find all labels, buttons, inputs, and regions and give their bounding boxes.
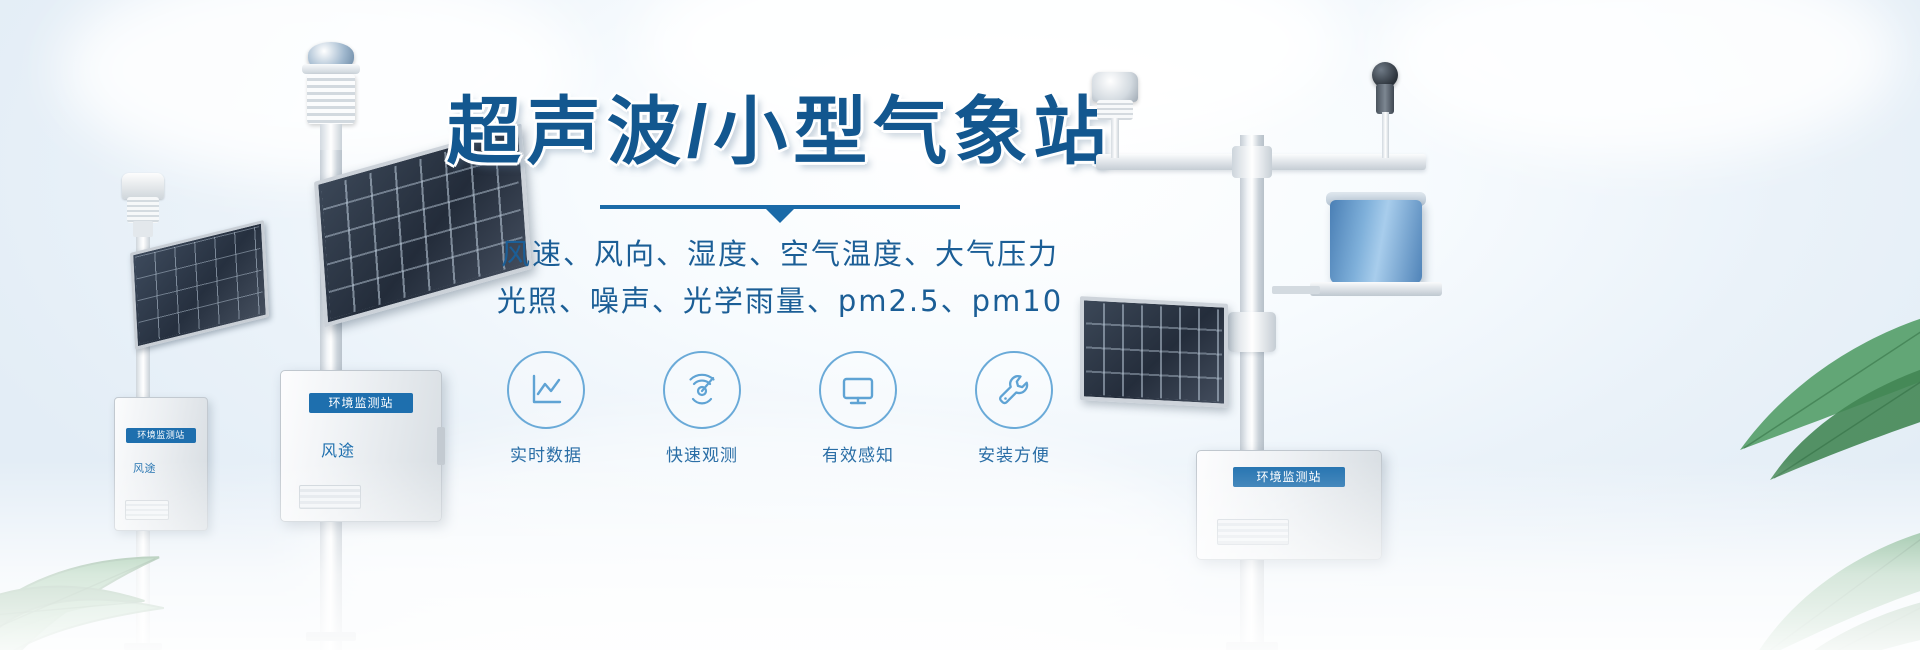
radiation-shield: [127, 197, 159, 223]
ultrasonic-sensor-icon: [1092, 72, 1138, 102]
radiation-shield-cap: [122, 173, 164, 199]
shield-cap: [302, 64, 360, 74]
subtitle-group: 风速、风向、湿度、空气温度、大气压力 光照、噪声、光学雨量、pm2.5、pm10: [430, 231, 1130, 325]
feature-item-easy-install[interactable]: 安装方便: [964, 351, 1064, 466]
camera-stem: [1382, 112, 1389, 158]
radiation-shield: [1097, 100, 1133, 120]
banner-content: 超声波/小型气象站 风速、风向、湿度、空气温度、大气压力 光照、噪声、光学雨量、…: [430, 95, 1130, 466]
radar-signal-icon: [663, 351, 741, 429]
radiation-shield: [307, 74, 355, 124]
cabinet-label: 环境监测站: [309, 393, 413, 413]
mast-collar: [1232, 146, 1272, 178]
rain-gauge: [1330, 200, 1422, 284]
chart-line-icon: [507, 351, 585, 429]
subtitle-line-2: 光照、噪声、光学雨量、pm2.5、pm10: [430, 278, 1130, 325]
monitor-screen-icon: [819, 351, 897, 429]
feature-item-effective-sensing[interactable]: 有效感知: [808, 351, 908, 466]
solar-panel: [1080, 296, 1228, 408]
product-banner: 环境监测站 风途 环境监测站 风途 超声波/小型气象站 风速、风向、湿度、空气温…: [0, 0, 1920, 650]
mast-collar: [1228, 312, 1276, 352]
mounting-shelf: [1310, 282, 1442, 296]
divider-with-chevron-icon: [600, 205, 960, 209]
mast-neck: [320, 124, 342, 150]
feature-list: 实时数据 快速观测: [430, 351, 1130, 466]
shelf-bracket: [1272, 286, 1320, 294]
feature-item-realtime-data[interactable]: 实时数据: [496, 351, 596, 466]
subtitle-line-1: 风速、风向、湿度、空气温度、大气压力: [430, 231, 1130, 278]
brand-logo: 风途: [321, 437, 355, 461]
feature-item-fast-observation[interactable]: 快速观测: [652, 351, 752, 466]
wrench-icon: [975, 351, 1053, 429]
solar-panel: [130, 220, 269, 350]
page-title: 超声波/小型气象站: [430, 95, 1130, 169]
sensor-stem: [1111, 118, 1119, 158]
bottom-haze-overlay: [0, 460, 1920, 650]
camera-body: [1376, 84, 1394, 114]
sensor-housing: [133, 221, 153, 237]
